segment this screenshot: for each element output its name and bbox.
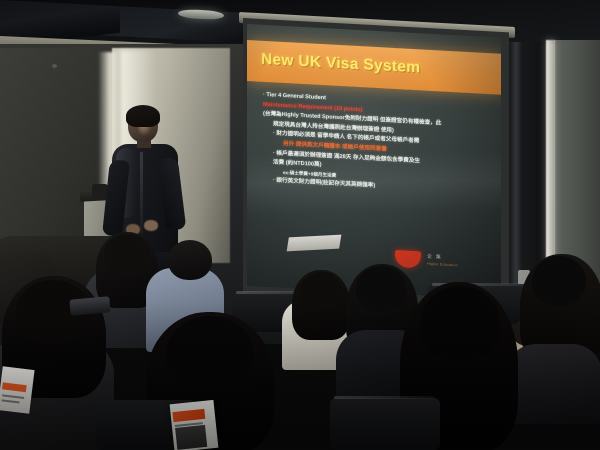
screen-surface: New UK Visa System Tier 4 General Studen…: [247, 24, 501, 300]
slide-body: Tier 4 General Student Maintenance Requi…: [257, 91, 497, 198]
lecture-room-photo: New UK Visa System Tier 4 General Studen…: [0, 0, 600, 450]
chair-edge: [334, 396, 434, 399]
slide-title-bar: New UK Visa System: [247, 40, 501, 95]
brochure-band: [172, 409, 205, 422]
logo-mark-icon: [395, 250, 421, 268]
attendee-head: [356, 266, 406, 312]
presenter-hair: [126, 105, 160, 127]
brochure-image-block: [175, 425, 207, 450]
wall-fixture-dot: [52, 64, 57, 68]
brochure[interactable]: [170, 400, 219, 450]
slide-logo: 企 業 Higher Education: [395, 248, 481, 279]
chair-front-right: [330, 398, 440, 450]
logo-cjk-text: 企 業: [427, 253, 442, 261]
attendee-head: [166, 316, 254, 394]
handout-text-line: [2, 394, 24, 399]
presenter-hand-right: [144, 220, 158, 231]
attendee-head: [168, 240, 212, 280]
slide-title: New UK Visa System: [261, 51, 420, 78]
handout-band: [2, 382, 27, 392]
attendee-head: [420, 286, 500, 362]
presenter-shirt-placket: [140, 152, 143, 236]
attendee-head: [300, 272, 342, 310]
handout-text-line: [2, 399, 20, 403]
attendee-body: [506, 344, 600, 424]
attendee-head: [532, 256, 586, 306]
papers-on-desk: [287, 235, 342, 252]
attendee-head: [104, 234, 150, 276]
handout-left[interactable]: [0, 366, 35, 414]
logo-subtext: Higher Education: [427, 262, 458, 268]
